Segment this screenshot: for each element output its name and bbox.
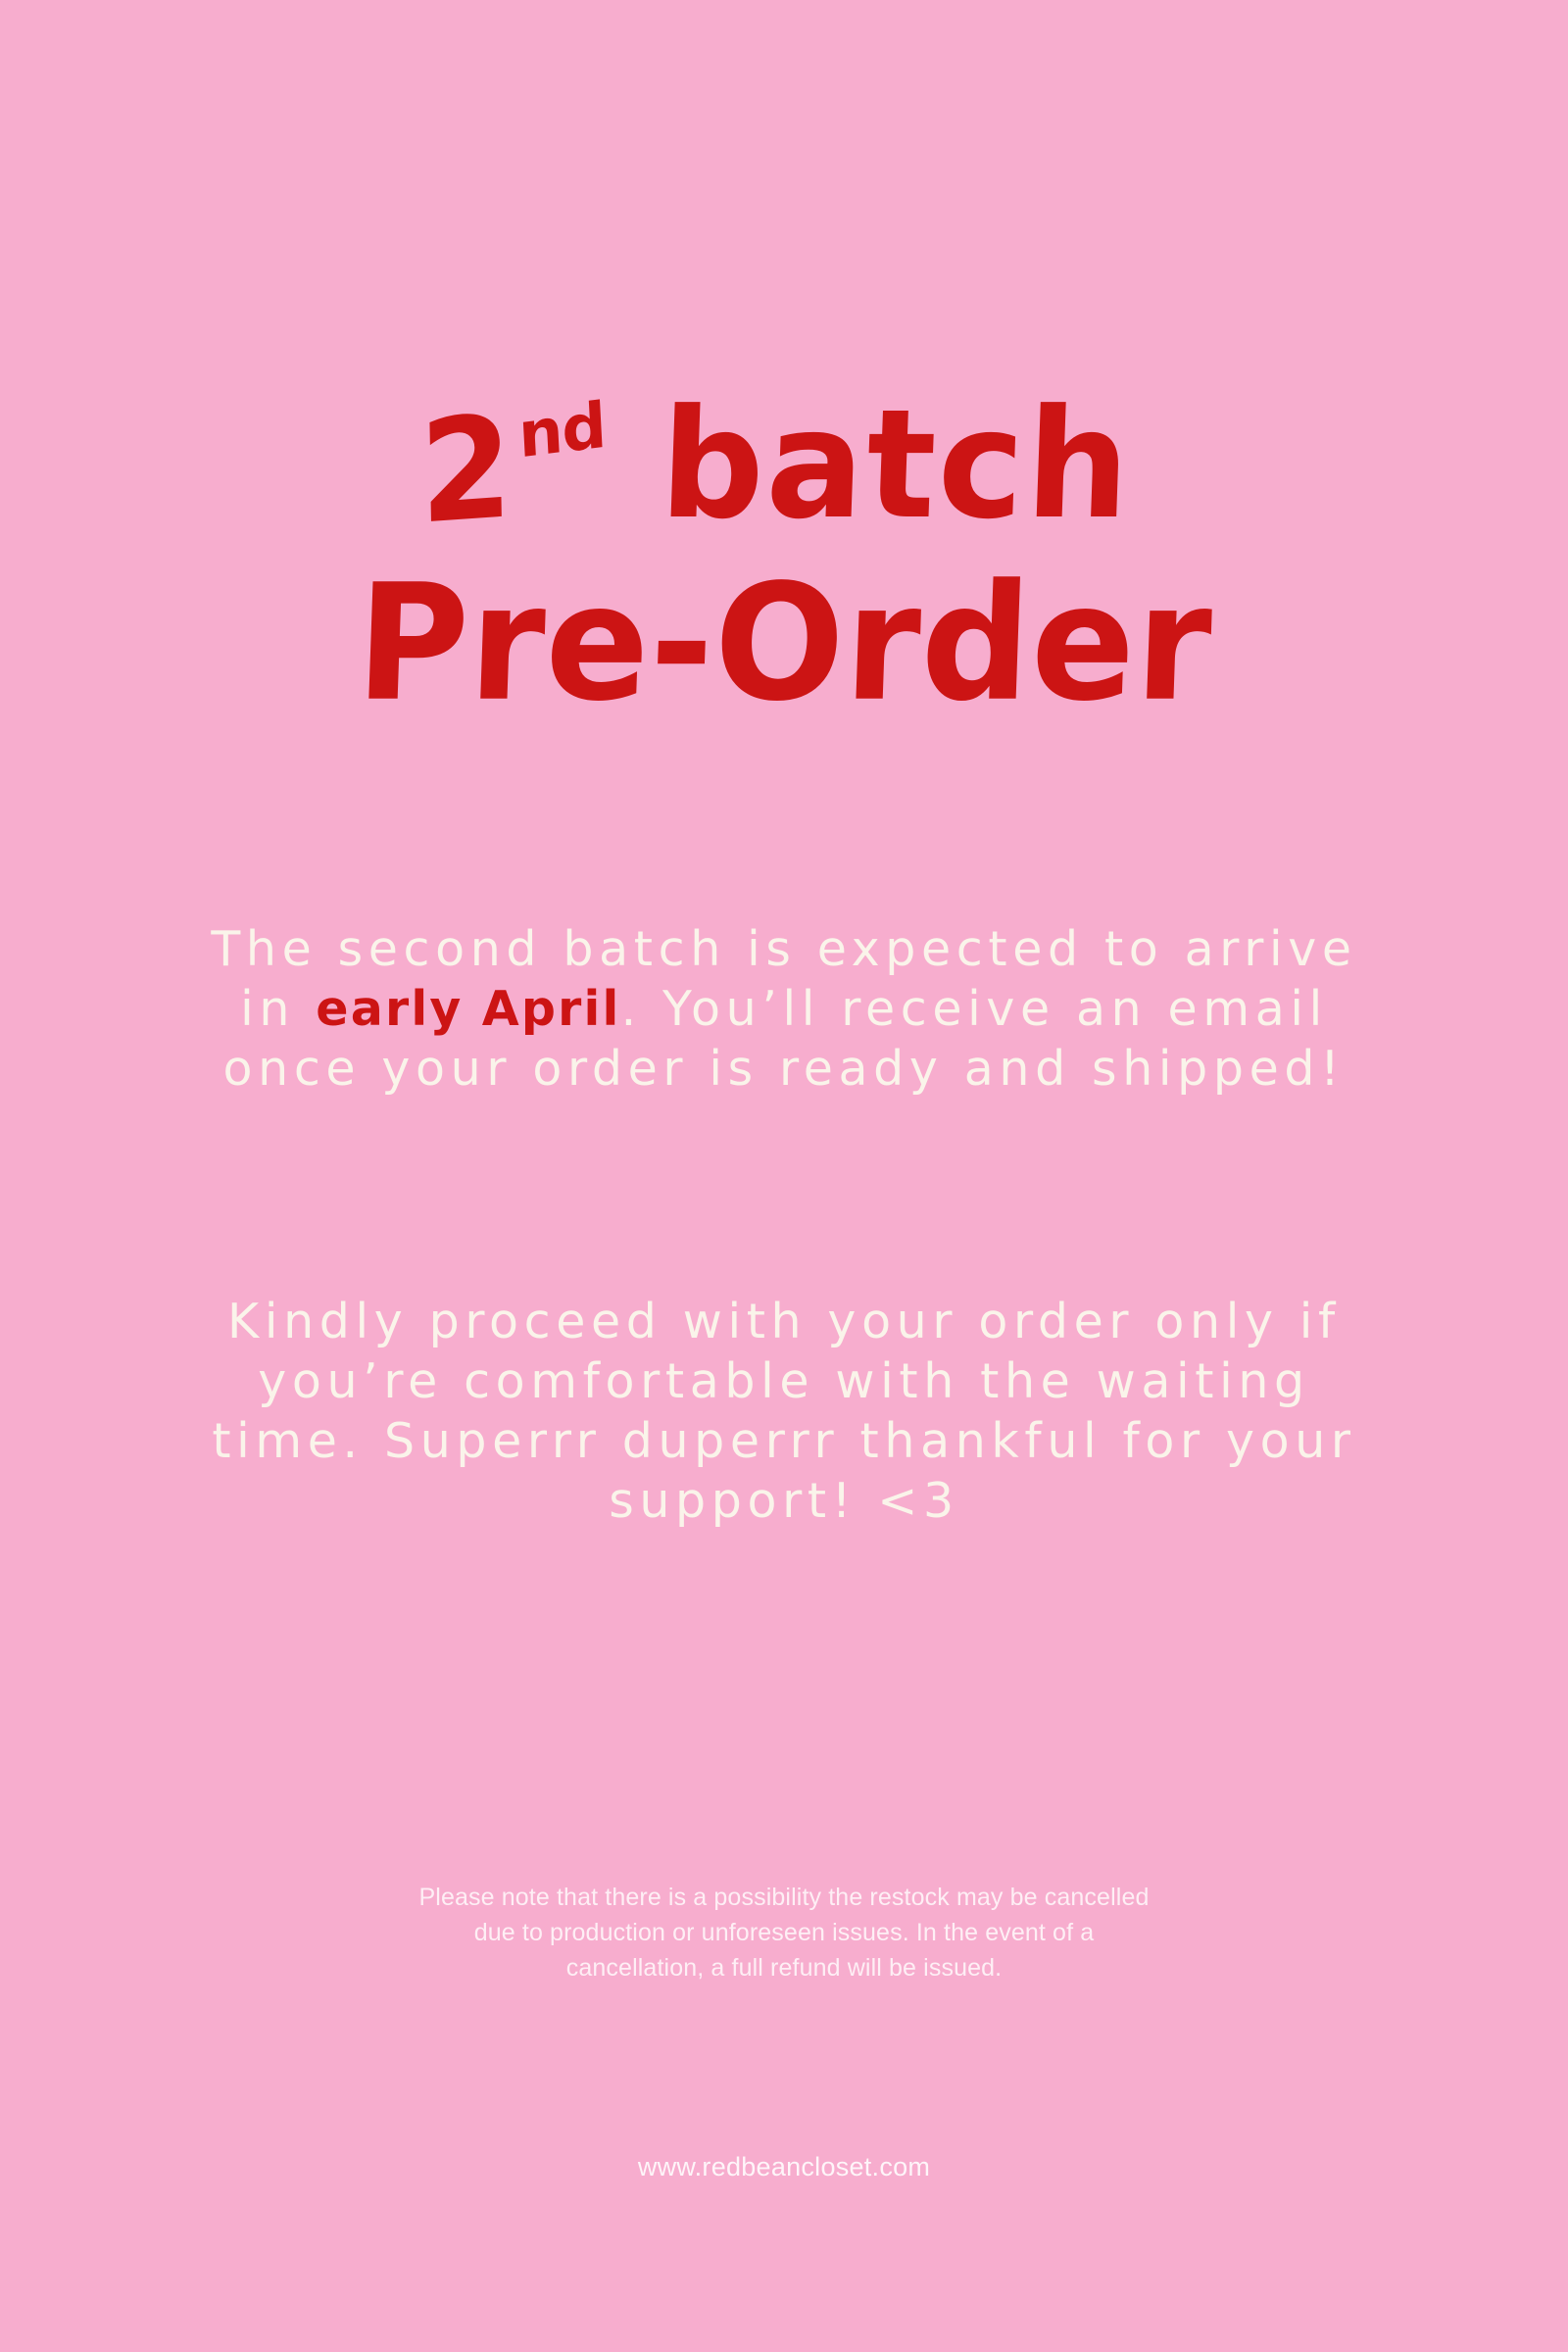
title-word-preorder: Pre-Order [354,563,1215,723]
para2-line-1: Kindly proceed with your order only if [147,1292,1421,1351]
disclaimer-note: Please note that there is a possibility … [294,1880,1274,1985]
website-url: www.redbeancloset.com [638,2152,930,2181]
poster-title: 2ndbatch Pre-Order [0,384,1568,719]
title-line-preorder: Pre-Order [0,566,1568,719]
para2-line-2: you’re comfortable with the waiting [147,1351,1421,1411]
title-word-batch: batch [658,389,1134,540]
para1-line2-prefix: in [240,981,316,1037]
paragraph-waiting-notice: Kindly proceed with your order only if y… [147,1292,1421,1531]
footer: www.redbeancloset.com [0,2152,1568,2182]
para1-line-2: in early April. You’ll receive an email [147,979,1421,1039]
disclaimer-line-1: Please note that there is a possibility … [294,1880,1274,1915]
preorder-announcement-poster: 2ndbatch Pre-Order The second batch is e… [0,0,1568,2352]
disclaimer-line-2: due to production or unforeseen issues. … [294,1915,1274,1950]
paragraph-arrival-info: The second batch is expected to arrive i… [147,919,1421,1099]
para2-line-3: time. Superrr duperrr thankful for your [147,1411,1421,1471]
para1-line2-suffix: . You’ll receive an email [621,981,1328,1037]
title-number: 2 [418,397,514,545]
para2-line-4: support! <3 [147,1471,1421,1531]
para1-line-3: once your order is ready and shipped! [147,1039,1421,1099]
disclaimer-line-3: cancellation, a full refund will be issu… [294,1950,1274,1985]
para1-line-1: The second batch is expected to arrive [147,919,1421,979]
title-ordinal-suffix: nd [517,395,608,468]
highlight-early-april: early April [316,981,620,1037]
